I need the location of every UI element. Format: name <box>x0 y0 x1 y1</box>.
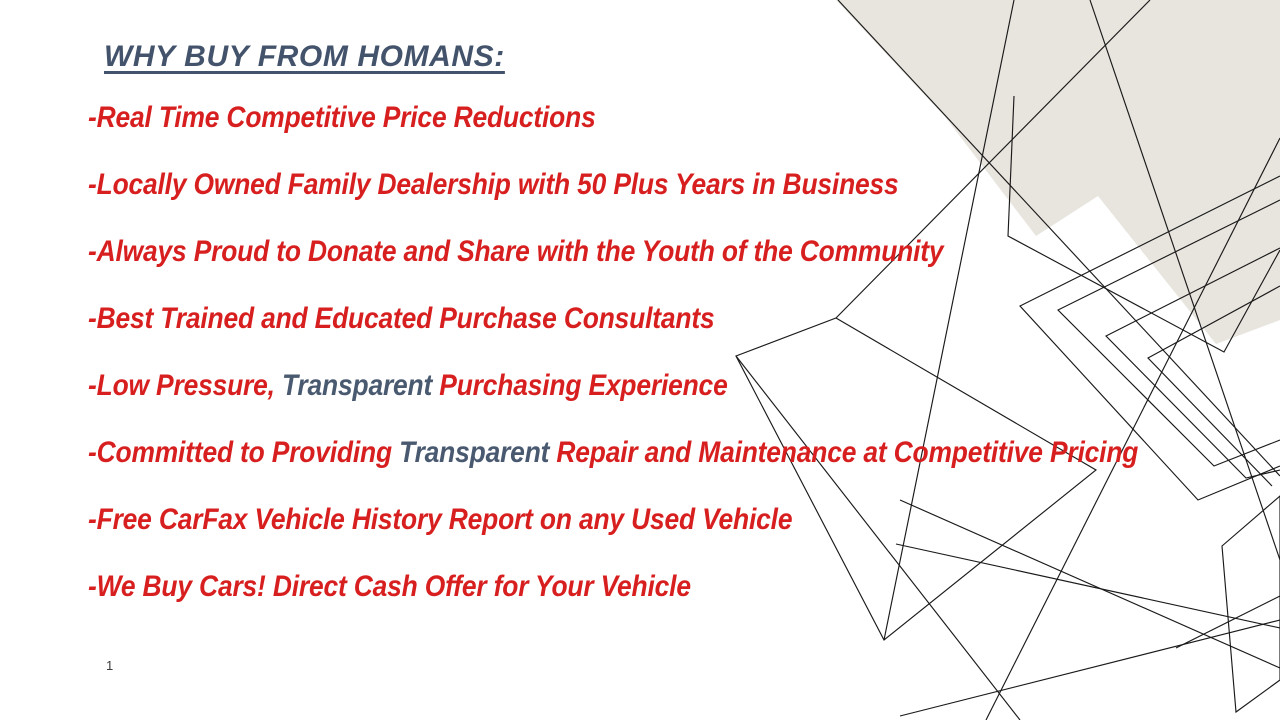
bullet-text-segment: -We Buy Cars! Direct Cash Offer for Your… <box>88 570 691 603</box>
bullet-text-segment: -Free CarFax Vehicle History Report on a… <box>88 503 792 536</box>
bullet-item-free-carfax-report: -Free CarFax Vehicle History Report on a… <box>88 498 1126 565</box>
benefits-list: -Real Time Competitive Price Reductions-… <box>88 96 1268 632</box>
bullet-text-segment: Transparent <box>399 436 549 469</box>
bullet-text-segment: Purchasing Experience <box>432 369 727 402</box>
page-number: 1 <box>106 658 113 673</box>
bullet-item-we-buy-cars-cash-offer: -We Buy Cars! Direct Cash Offer for Your… <box>88 565 1126 632</box>
bullet-text-segment: Transparent <box>282 369 432 402</box>
bullet-item-best-trained-purchase-consultants: -Best Trained and Educated Purchase Cons… <box>88 297 1126 364</box>
bullet-text-segment: -Best Trained and Educated Purchase Cons… <box>88 302 714 335</box>
bullet-text-segment: -Real Time Competitive Price Reductions <box>88 101 596 134</box>
bullet-text-segment: -Always Proud to Donate and Share with t… <box>88 235 943 268</box>
bullet-item-real-time-price-reductions: -Real Time Competitive Price Reductions <box>88 96 1126 163</box>
bullet-item-transparent-repair-and-maintenance: -Committed to Providing Transparent Repa… <box>88 431 1126 498</box>
bullet-item-low-pressure-transparent-purchasing: -Low Pressure, Transparent Purchasing Ex… <box>88 364 1126 431</box>
bullet-item-donate-and-share-with-youth: -Always Proud to Donate and Share with t… <box>88 230 1126 297</box>
bullet-item-locally-owned-family-dealership: -Locally Owned Family Dealership with 50… <box>88 163 1126 230</box>
bullet-text-segment: -Low Pressure, <box>88 369 282 402</box>
bullet-text-segment: -Committed to Providing <box>88 436 399 469</box>
slide-canvas: WHY BUY FROM HOMANS: -Real Time Competit… <box>0 0 1280 720</box>
bullet-text-segment: Repair and Maintenance at Competitive Pr… <box>549 436 1138 469</box>
page-title: WHY BUY FROM HOMANS: <box>104 40 505 74</box>
bullet-text-segment: -Locally Owned Family Dealership with 50… <box>88 168 899 201</box>
